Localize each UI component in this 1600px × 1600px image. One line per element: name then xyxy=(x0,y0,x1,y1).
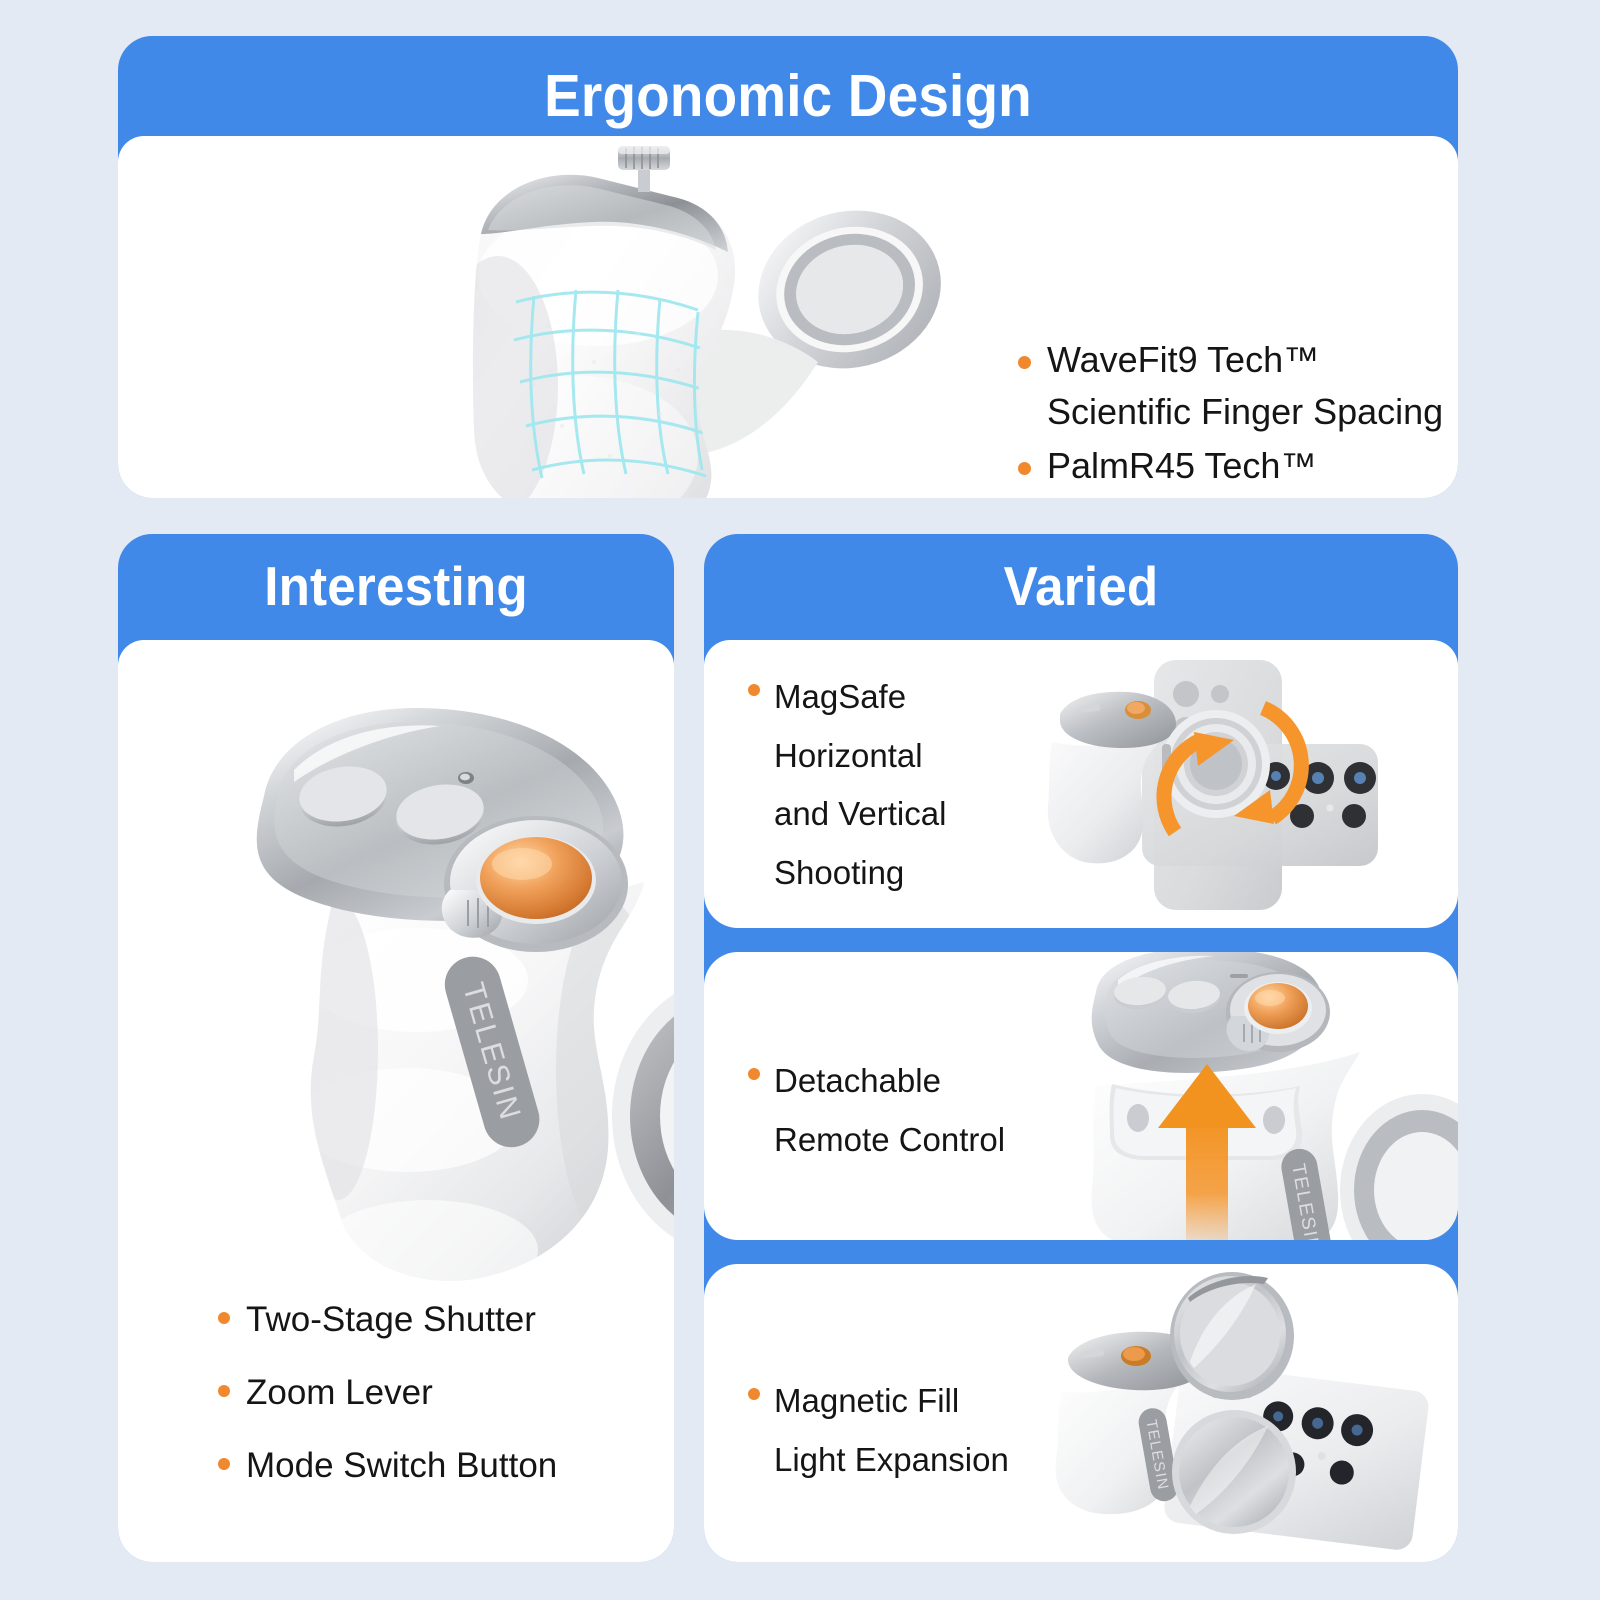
product-image-ergonomic-grip xyxy=(348,136,988,498)
bullet-text: Mode Switch Button xyxy=(246,1441,557,1492)
bullet-dot-icon xyxy=(218,1458,230,1470)
bullet-dot-icon xyxy=(1018,356,1031,369)
varied-card-magsafe: MagSafe Horizontal and Vertical Shooting xyxy=(704,640,1458,928)
bullet-item: PalmR45 Tech™ Curvature Soothing Handle xyxy=(1018,440,1458,498)
bullet-line-2: Light Expansion xyxy=(774,1441,1009,1478)
bullet-text: WaveFit9 Tech™ Scientific Finger Spacing xyxy=(1047,334,1443,438)
bullet-dot-icon xyxy=(748,1068,760,1080)
bullet-dot-icon xyxy=(748,684,760,696)
ergonomic-bullet-list: WaveFit9 Tech™ Scientific Finger Spacing… xyxy=(1018,334,1458,498)
product-image-fill-light: TELESIN xyxy=(1024,1264,1458,1562)
infographic-page: Ergonomic Design xyxy=(0,0,1600,1600)
bullet-dot-icon xyxy=(748,1388,760,1400)
bullet-line-2: Horizontal xyxy=(774,737,923,774)
bullet-line-1: PalmR45 Tech™ xyxy=(1047,445,1316,486)
bullet-item: Mode Switch Button xyxy=(218,1441,688,1492)
bullet-line-1: MagSafe xyxy=(774,678,906,715)
bullet-dot-icon xyxy=(1018,462,1031,475)
varied-card-fill-light: Magnetic Fill Light Expansion xyxy=(704,1264,1458,1562)
product-image-controls-closeup: TELESIN xyxy=(118,650,674,1290)
bullet-line-2: Remote Control xyxy=(774,1121,1005,1158)
bullet-item: Zoom Lever xyxy=(218,1368,688,1419)
product-image-detachable-remote: TELESIN xyxy=(1034,952,1458,1240)
bullet-item: WaveFit9 Tech™ Scientific Finger Spacing xyxy=(1018,334,1458,438)
varied-card-detachable: Detachable Remote Control xyxy=(704,952,1458,1240)
bullet-line-1: WaveFit9 Tech™ xyxy=(1047,339,1319,380)
bullet-item: MagSafe Horizontal and Vertical Shooting xyxy=(748,668,946,903)
bullet-text: Zoom Lever xyxy=(246,1368,433,1419)
interesting-bullet-list: Two-Stage Shutter Zoom Lever Mode Switch… xyxy=(218,1295,688,1513)
bullet-dot-icon xyxy=(218,1385,230,1397)
bullet-item: Magnetic Fill Light Expansion xyxy=(748,1372,1009,1489)
bullet-line-3: and Vertical xyxy=(774,795,946,832)
bullet-text: MagSafe Horizontal and Vertical Shooting xyxy=(774,668,946,903)
bullet-line-1: Magnetic Fill xyxy=(774,1382,959,1419)
bullet-item: Two-Stage Shutter xyxy=(218,1295,688,1346)
product-image-magsafe-rotation xyxy=(1034,640,1458,928)
section-ergonomic-body: WaveFit9 Tech™ Scientific Finger Spacing… xyxy=(118,136,1458,498)
bullet-line-2: Scientific Finger Spacing xyxy=(1047,391,1443,432)
bullet-item: Detachable Remote Control xyxy=(748,1052,1005,1169)
bullet-text: PalmR45 Tech™ Curvature Soothing Handle xyxy=(1047,440,1458,498)
bullet-text: Two-Stage Shutter xyxy=(246,1295,536,1346)
bullet-line-1: Detachable xyxy=(774,1062,941,1099)
bullet-dot-icon xyxy=(218,1312,230,1324)
bullet-text: Detachable Remote Control xyxy=(774,1052,1005,1169)
bullet-line-4: Shooting xyxy=(774,854,904,891)
bullet-text: Magnetic Fill Light Expansion xyxy=(774,1372,1009,1489)
